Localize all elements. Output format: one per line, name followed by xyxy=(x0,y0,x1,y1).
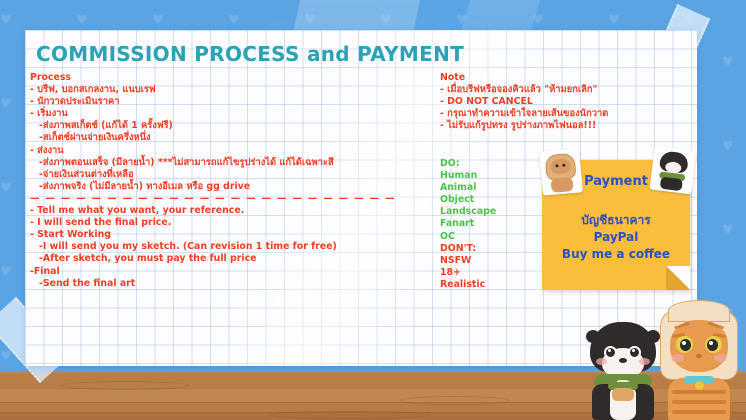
payment-method-coffee: Buy me a coffee xyxy=(542,246,690,263)
otter-sticker xyxy=(649,146,696,195)
process-line-1: - นักวาดประเมินราคา xyxy=(30,96,430,108)
section-divider: — — — — — — — — — — — — — — — — — — — — … xyxy=(30,193,430,205)
do-items: HumanAnimalObjectLandscapeFanartOC xyxy=(440,170,550,243)
process-heading: Process xyxy=(30,72,430,84)
process-line-2: - เริ่มงาน xyxy=(30,108,430,120)
dont-item-2: Realistic xyxy=(440,279,550,291)
mascot-characters xyxy=(578,300,746,420)
process-en-line-5: -Final xyxy=(30,266,430,278)
process-line-7: -จ่ายเงินส่วนต่างที่เหลือ xyxy=(30,169,430,181)
process-line-4: -สเก็ตช์ผ่านจ่ายเงินครึ่งหนึ่ง xyxy=(30,132,430,144)
otter-mascot xyxy=(586,322,662,420)
do-item-0: Human xyxy=(440,170,550,182)
bread-cat-sticker xyxy=(539,148,583,195)
sticky-note-fold xyxy=(666,266,690,290)
process-line-0: - บรีฟ, บอกสเกลงาน, แนบเรฟ xyxy=(30,84,430,96)
note-line-2: - กรุณาทำความเข้าใจลายเส้นของนักวาด xyxy=(440,108,670,120)
process-en-line-0: - Tell me what you want, your reference. xyxy=(30,205,430,217)
process-line-3: -ส่งภาพสเก็ตช์ (แก้ได้ 1 ครั้งฟรี) xyxy=(30,120,430,132)
process-line-8: -ส่งภาพจริง (ไม่มีลายน้ำ) ทางอีเมล หรือ … xyxy=(30,181,430,193)
process-en-line-6: -Send the final art xyxy=(30,278,430,290)
process-en-line-4: -After sketch, you must pay the full pri… xyxy=(30,253,430,265)
do-heading: DO: xyxy=(440,158,550,170)
do-item-3: Landscape xyxy=(440,206,550,218)
note-line-0: - เมื่อบรีฟหรือจองคิวแล้ว "ห้ามยกเลิก" xyxy=(440,84,670,96)
bread-cat-mascot xyxy=(656,308,742,420)
page-title: COMMISSION PROCESS and PAYMENT xyxy=(36,42,464,66)
payment-method-paypal: PayPal xyxy=(542,229,690,246)
do-item-5: OC xyxy=(440,231,550,243)
note-section: Note - เมื่อบรีฟหรือจองคิวแล้ว "ห้ามยกเล… xyxy=(440,72,670,132)
note-heading: Note xyxy=(440,72,670,84)
dont-items: NSFW18+Realistic xyxy=(440,255,550,291)
process-line-6: -ส่งภาพตอนเสร็จ (มีลายน้ำ) ***ไม่สามารถแ… xyxy=(30,157,430,169)
note-line-1: - DO NOT CANCEL xyxy=(440,96,670,108)
process-thai-lines: - บรีฟ, บอกสเกลงาน, แนบเรฟ- นักวาดประเมิ… xyxy=(30,84,430,193)
note-line-3: - ไม่รับแก้รูปทรง รูปร่างภาพไฟนอล!!! xyxy=(440,120,670,132)
dont-heading: DON'T: xyxy=(440,243,550,255)
dont-item-0: NSFW xyxy=(440,255,550,267)
dont-item-1: 18+ xyxy=(440,267,550,279)
process-section: Process - บรีฟ, บอกสเกลงาน, แนบเรฟ- นักว… xyxy=(30,72,430,290)
payment-method-bank: บัญชีธนาคาร xyxy=(542,212,690,229)
do-dont-section: DO: HumanAnimalObjectLandscapeFanartOC D… xyxy=(440,158,550,291)
do-item-1: Animal xyxy=(440,182,550,194)
do-item-2: Object xyxy=(440,194,550,206)
process-en-line-2: - Start Working xyxy=(30,229,430,241)
process-en-line-3: -I will send you my sketch. (Can revisio… xyxy=(30,241,430,253)
process-line-5: - ส่งงาน xyxy=(30,145,430,157)
process-en-line-1: - I will send the final price. xyxy=(30,217,430,229)
process-english-lines: - Tell me what you want, your reference.… xyxy=(30,205,430,290)
note-lines: - เมื่อบรีฟหรือจองคิวแล้ว "ห้ามยกเลิก"- … xyxy=(440,84,670,132)
do-item-4: Fanart xyxy=(440,218,550,230)
